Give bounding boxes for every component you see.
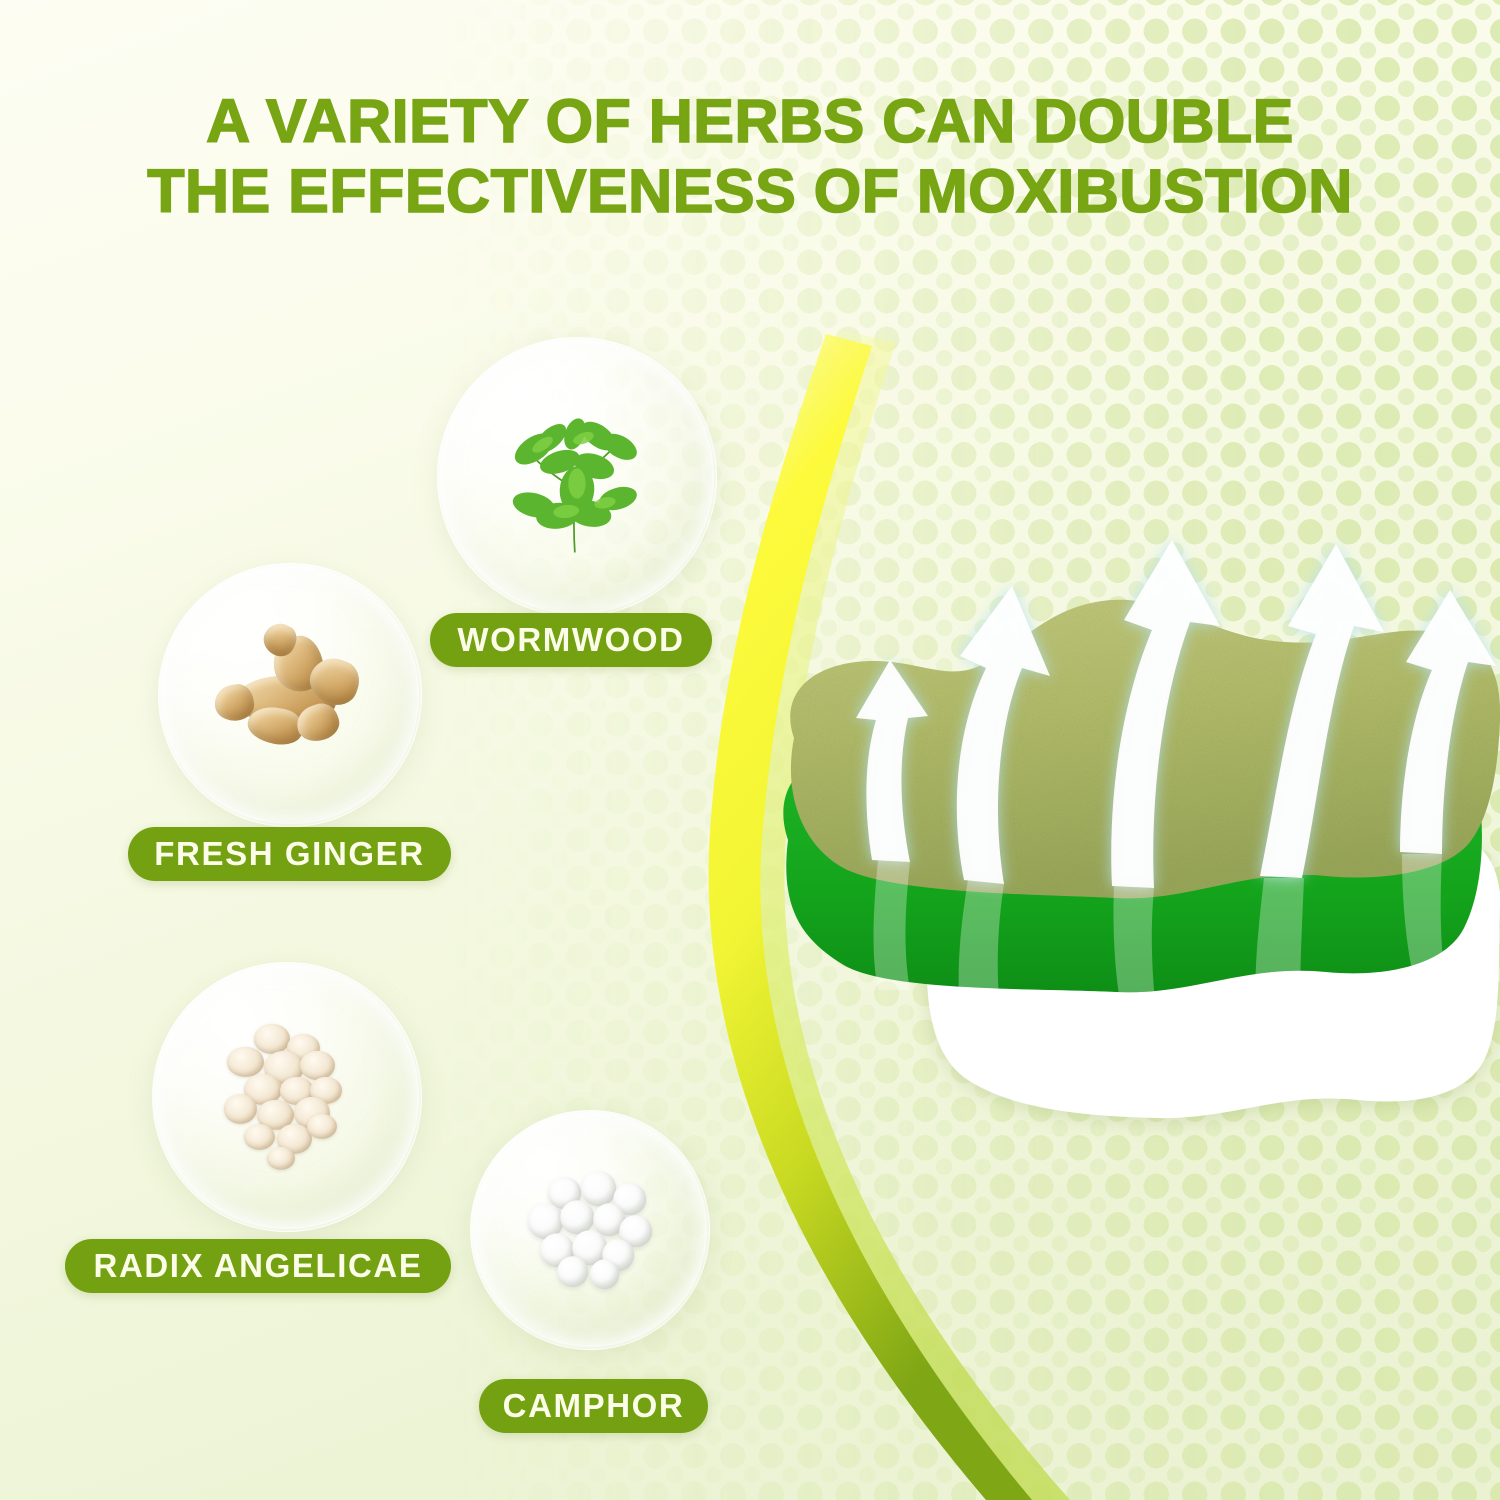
ingredient-label-radix-angelicae[interactable]: RADIX ANGELICAE bbox=[65, 1239, 451, 1293]
infographic-canvas: A VARIETY OF HERBS CAN DOUBLE THE EFFECT… bbox=[0, 0, 1500, 1500]
ingredient-bubble-wormwood[interactable] bbox=[437, 337, 717, 617]
title-line-1: A VARIETY OF HERBS CAN DOUBLE bbox=[206, 87, 1294, 155]
title-line-2: THE EFFECTIVENESS OF MOXIBUSTION bbox=[0, 156, 1500, 226]
ingredient-label-fresh-ginger[interactable]: FRESH GINGER bbox=[128, 827, 451, 881]
label-text: RADIX ANGELICAE bbox=[94, 1247, 423, 1285]
heat-arrow-2 bbox=[957, 586, 1050, 884]
heat-arrow-4 bbox=[1260, 544, 1384, 878]
label-text: CAMPHOR bbox=[503, 1387, 685, 1425]
heat-arrow-5 bbox=[1400, 590, 1496, 854]
label-text: WORMWOOD bbox=[457, 621, 684, 659]
arrow-tails-overlay bbox=[874, 854, 1445, 1024]
ingredient-bubble-radix-angelicae[interactable] bbox=[152, 962, 422, 1232]
ingredient-bubble-camphor[interactable] bbox=[470, 1110, 710, 1350]
ingredient-label-wormwood[interactable]: WORMWOOD bbox=[430, 613, 712, 667]
ingredient-bubble-fresh-ginger[interactable] bbox=[158, 563, 422, 827]
heat-arrow-3 bbox=[1111, 540, 1220, 888]
green-middle-layer bbox=[783, 741, 1482, 992]
ginger-root-icon bbox=[209, 614, 371, 776]
herb-powder-top-layer bbox=[790, 600, 1500, 899]
page-title: A VARIETY OF HERBS CAN DOUBLE THE EFFECT… bbox=[0, 86, 1500, 226]
layered-moxibustion-patch bbox=[760, 520, 1500, 1160]
wormwood-sprig-icon bbox=[491, 391, 663, 563]
camphor-balls-icon bbox=[516, 1156, 664, 1304]
heat-rising-arrows bbox=[856, 540, 1496, 888]
dried-root-slices-icon bbox=[204, 1014, 370, 1180]
label-text: FRESH GINGER bbox=[154, 835, 424, 873]
heat-arrow-1 bbox=[856, 660, 928, 862]
white-backing-layer bbox=[923, 819, 1500, 1118]
ingredient-label-camphor[interactable]: CAMPHOR bbox=[479, 1379, 708, 1433]
